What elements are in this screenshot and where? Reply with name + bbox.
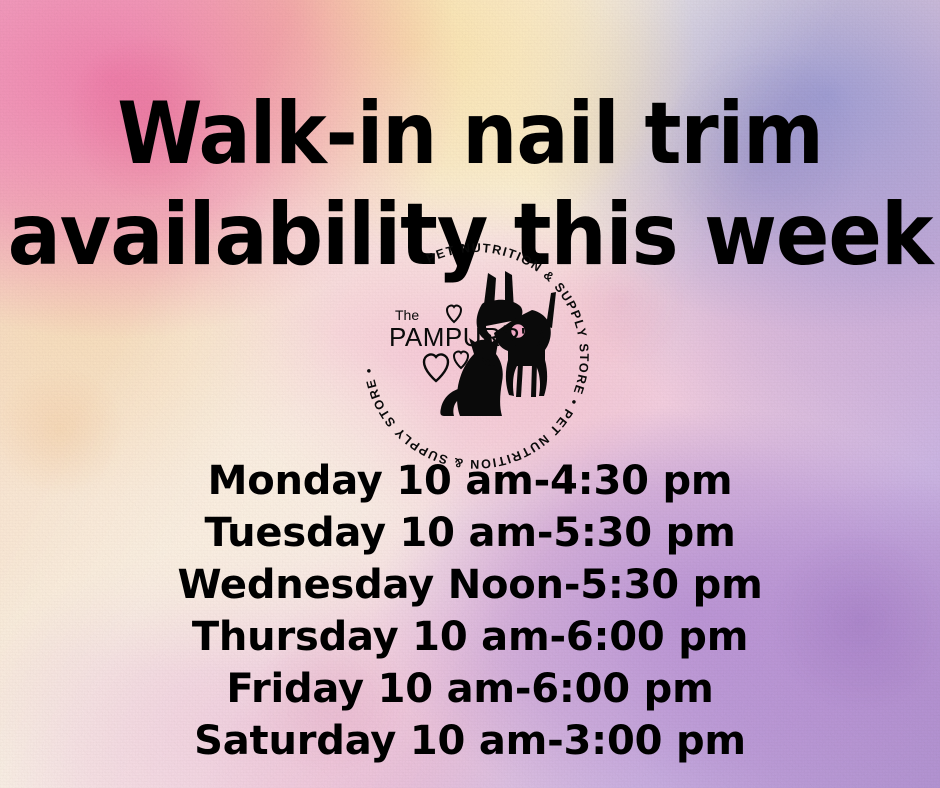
schedule-row-thursday: Thursday 10 am-6:00 pm bbox=[0, 611, 940, 663]
logo-brand-prefix: The bbox=[395, 307, 419, 323]
schedule-list: Monday 10 am-4:30 pm Tuesday 10 am-5:30 … bbox=[0, 455, 940, 767]
schedule-row-friday: Friday 10 am-6:00 pm bbox=[0, 663, 940, 715]
schedule-row-monday: Monday 10 am-4:30 pm bbox=[0, 455, 940, 507]
heart-outline-tiny-icon bbox=[447, 306, 461, 322]
poster-canvas: Walk-in nail trim availability this week… bbox=[0, 0, 940, 788]
logo-brand-name: PAMPURR'D bbox=[389, 322, 545, 352]
heart-outline-large-icon bbox=[424, 355, 448, 381]
logo-brand-suffix: Pet bbox=[476, 354, 496, 369]
headline-line-1: Walk-in nail trim bbox=[0, 84, 940, 185]
schedule-row-saturday: Saturday 10 am-3:00 pm bbox=[0, 715, 940, 767]
logo-svg: PET NUTRITION & SUPPLY STORE • PET NUTRI… bbox=[342, 238, 610, 460]
schedule-row-tuesday: Tuesday 10 am-5:30 pm bbox=[0, 507, 940, 559]
poster-content: Walk-in nail trim availability this week… bbox=[0, 0, 940, 788]
schedule-row-wednesday: Wednesday Noon-5:30 pm bbox=[0, 559, 940, 611]
pampurrd-pet-logo: PET NUTRITION & SUPPLY STORE • PET NUTRI… bbox=[342, 238, 610, 460]
